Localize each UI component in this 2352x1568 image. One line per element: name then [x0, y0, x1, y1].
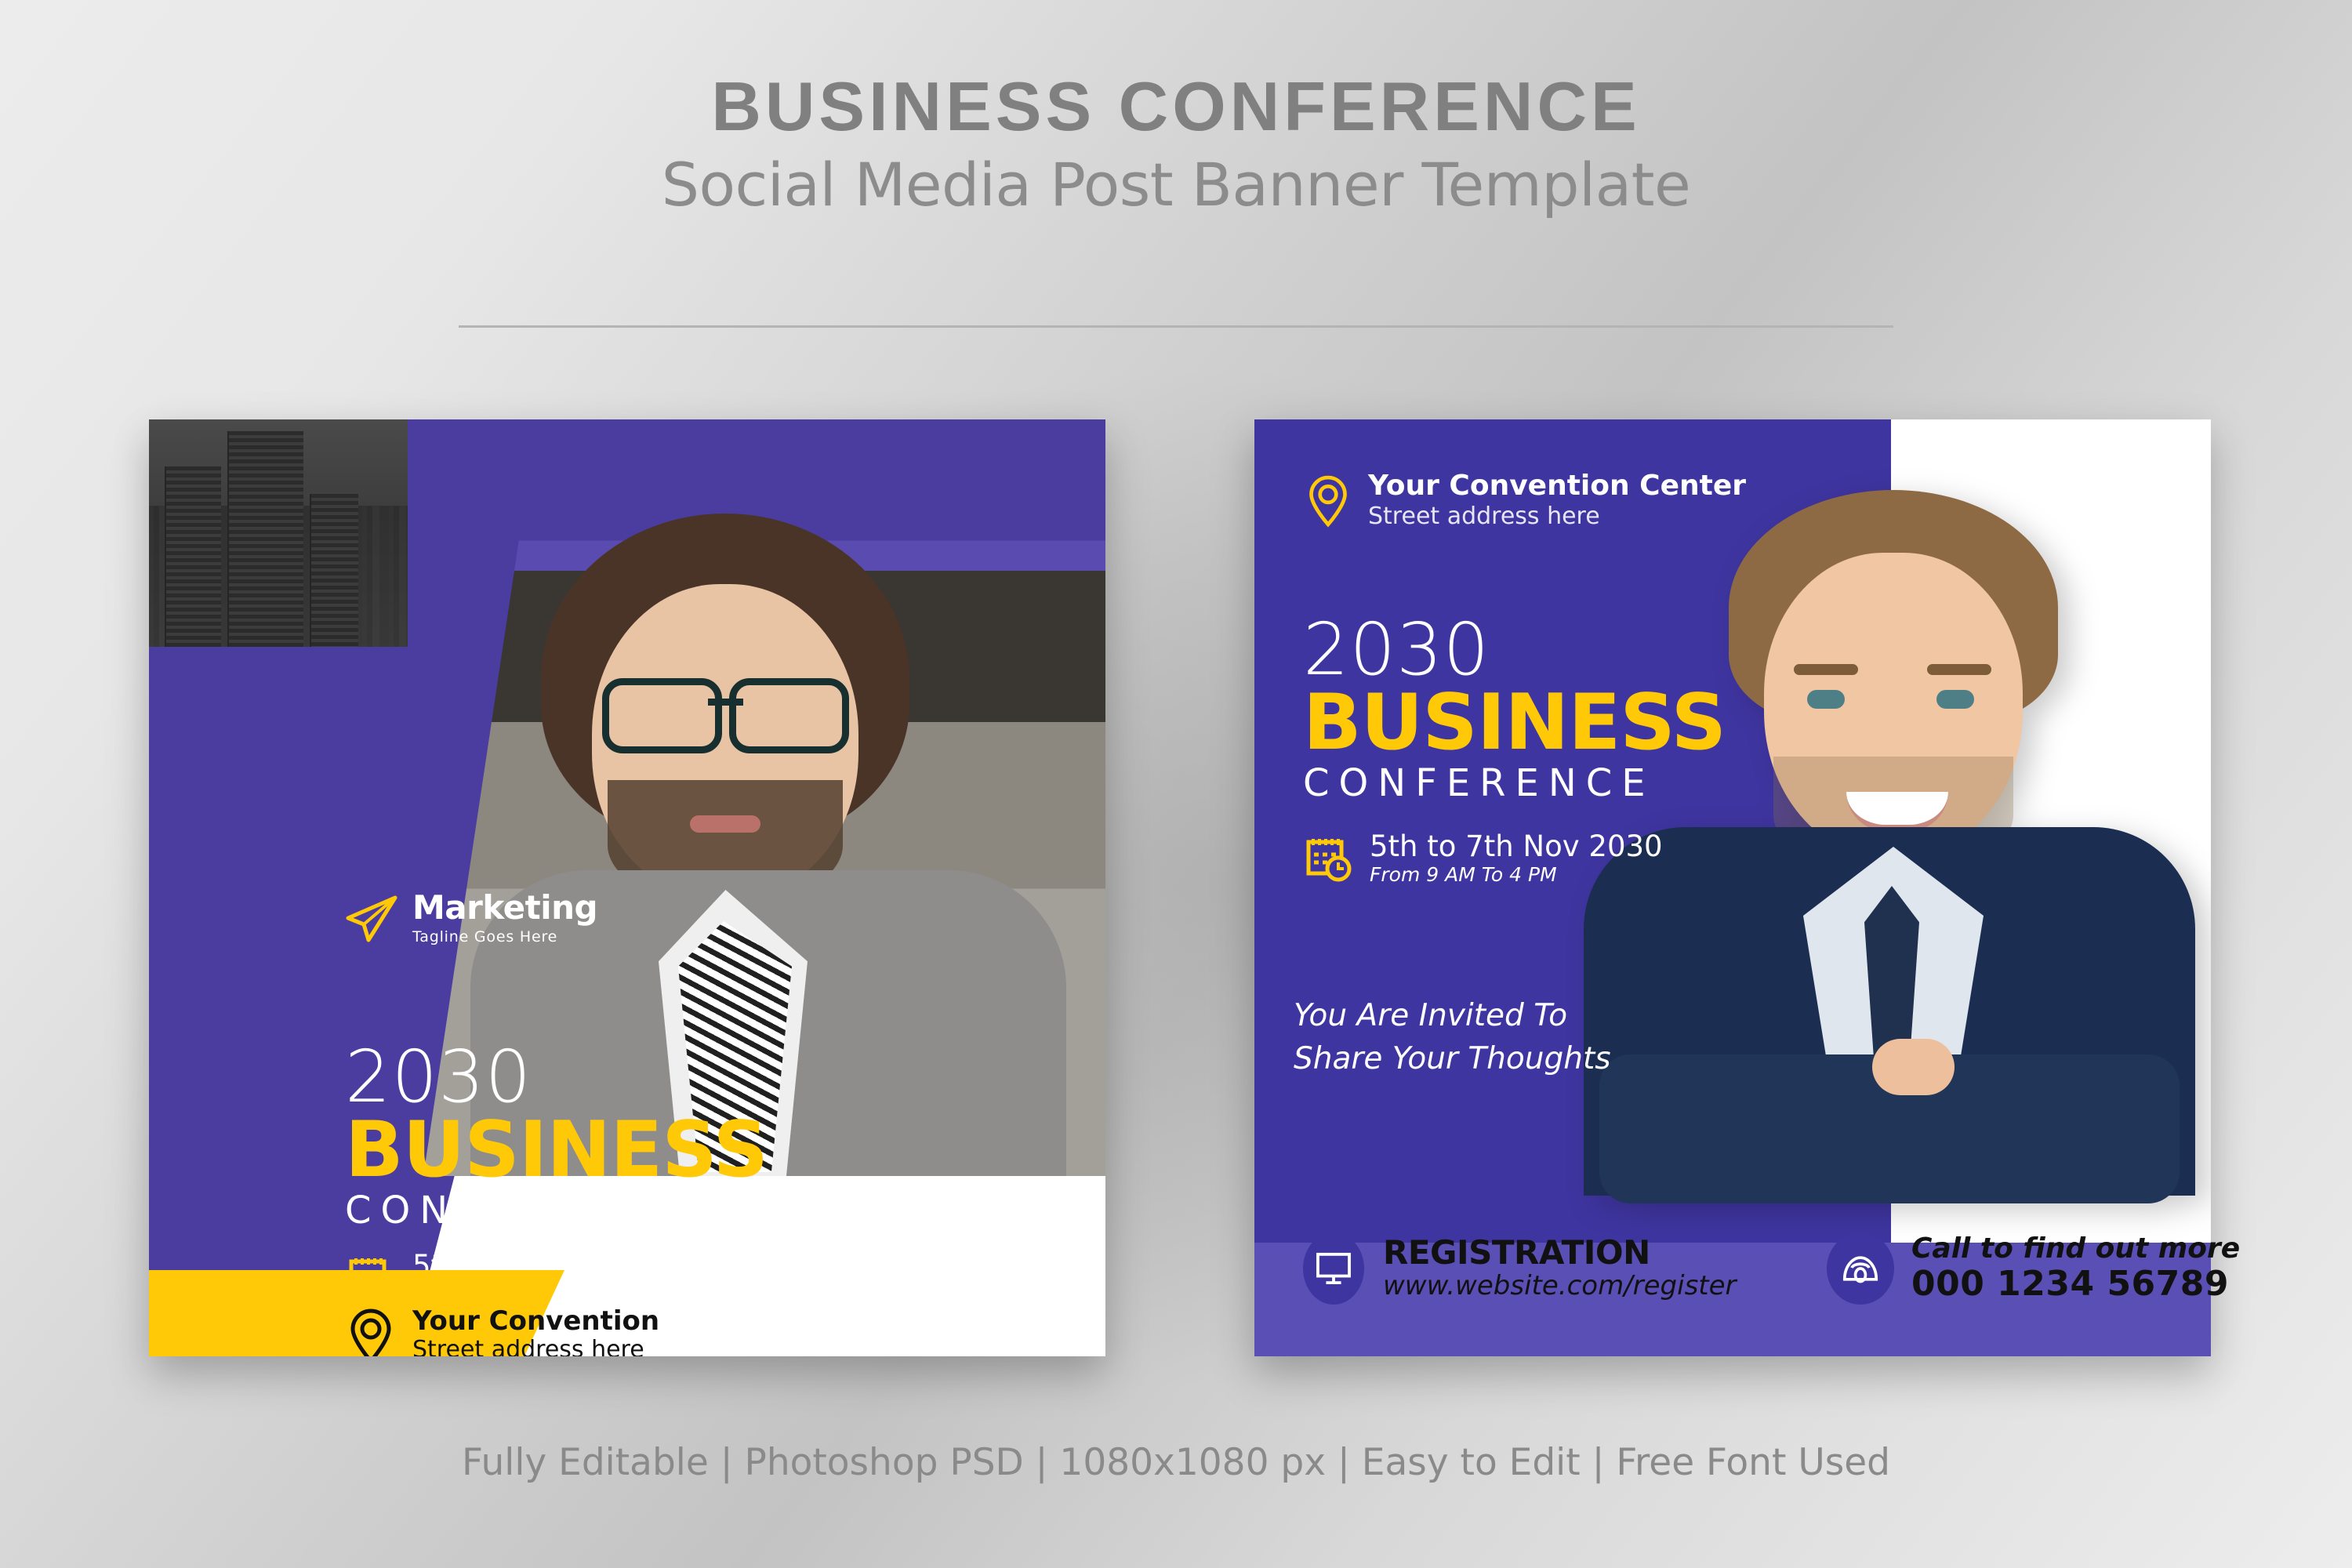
registration-url[interactable]: www.website.com/register: [1383, 1270, 1737, 1302]
location-name: Your Convention: [412, 1307, 659, 1336]
headline-left: 2030 BUSINESS CONFERENCE: [345, 1043, 768, 1234]
headline-main: BUSINESS: [345, 1112, 768, 1189]
building-shape: [310, 494, 358, 655]
photo-brow-right: [1927, 664, 1991, 675]
brand-tagline: Tagline Goes Here: [412, 928, 597, 946]
map-pin-icon: [1305, 473, 1351, 529]
invite-line-1: You Are Invited To: [1294, 994, 1611, 1037]
monitor-icon: [1316, 1252, 1352, 1285]
telephone-icon: [1840, 1250, 1881, 1287]
building-shape: [227, 431, 303, 655]
paper-plane-icon: [345, 895, 400, 943]
page-footer: Fully Editable | Photoshop PSD | 1080x10…: [0, 1441, 2352, 1484]
invite-line-2: Share Your Thoughts: [1294, 1037, 1611, 1080]
banner-left[interactable]: Marketing Tagline Goes Here 2030 BUSINES…: [149, 419, 1105, 1356]
telephone-icon-badge: [1827, 1232, 1894, 1305]
headline-sub: CONFERENCE: [345, 1189, 768, 1234]
glasses-lens-left: [602, 678, 722, 753]
date-block-right: 5th to 7th Nov 2030 From 9 AM To 4 PM: [1304, 831, 1663, 887]
building-shape: [165, 466, 221, 655]
registration-title: REGISTRATION: [1383, 1236, 1737, 1270]
photo-brow-left: [1794, 664, 1858, 675]
page-header: BUSINESS CONFERENCE Social Media Post Ba…: [0, 71, 2352, 222]
glasses-icon: [602, 678, 849, 739]
call-number[interactable]: 000 1234 56789: [1911, 1265, 2240, 1305]
photo-hand: [1872, 1039, 1955, 1095]
monitor-icon-badge: [1303, 1232, 1364, 1305]
photo-eye-left: [1807, 690, 1845, 709]
call-label: Call to find out more: [1911, 1233, 2240, 1265]
map-pin-icon: [347, 1308, 395, 1356]
headline-main: BUSINESS: [1303, 684, 1726, 761]
location-address: Street address here: [412, 1336, 659, 1356]
location-address: Street address here: [1368, 502, 1746, 532]
headline-year: 2030: [1303, 615, 1726, 684]
photo-eye-right: [1936, 690, 1974, 709]
headline-year: 2030: [345, 1043, 768, 1112]
banner-right[interactable]: [1254, 419, 2211, 1356]
photo-mouth: [690, 815, 760, 833]
calendar-clock-icon: [1304, 834, 1352, 883]
brand-logo[interactable]: Marketing Tagline Goes Here: [345, 891, 597, 946]
location-name: Your Convention Center: [1368, 470, 1746, 502]
page-title: BUSINESS CONFERENCE: [0, 71, 2352, 143]
headline-right: 2030 BUSINESS CONFERENCE: [1303, 615, 1726, 807]
date-range: 5th to 7th Nov 2030: [1370, 831, 1663, 863]
brand-name: Marketing: [412, 891, 597, 924]
date-hours: From 9 AM To 4 PM: [1370, 863, 1663, 887]
header-divider: [459, 325, 1893, 328]
speaker-photo-right: [1568, 490, 2211, 1180]
invite-block: You Are Invited To Share Your Thoughts: [1294, 994, 1611, 1081]
page-subtitle: Social Media Post Banner Template: [0, 147, 2352, 222]
glasses-lens-right: [729, 678, 849, 753]
location-block-left: Your Convention Street address here: [347, 1307, 659, 1356]
location-block-right: Your Convention Center Street address he…: [1305, 470, 1746, 531]
registration-block-right[interactable]: REGISTRATION www.website.com/register: [1303, 1232, 1737, 1305]
headline-sub: CONFERENCE: [1303, 761, 1726, 807]
call-block[interactable]: Call to find out more 000 1234 56789: [1827, 1232, 2240, 1305]
